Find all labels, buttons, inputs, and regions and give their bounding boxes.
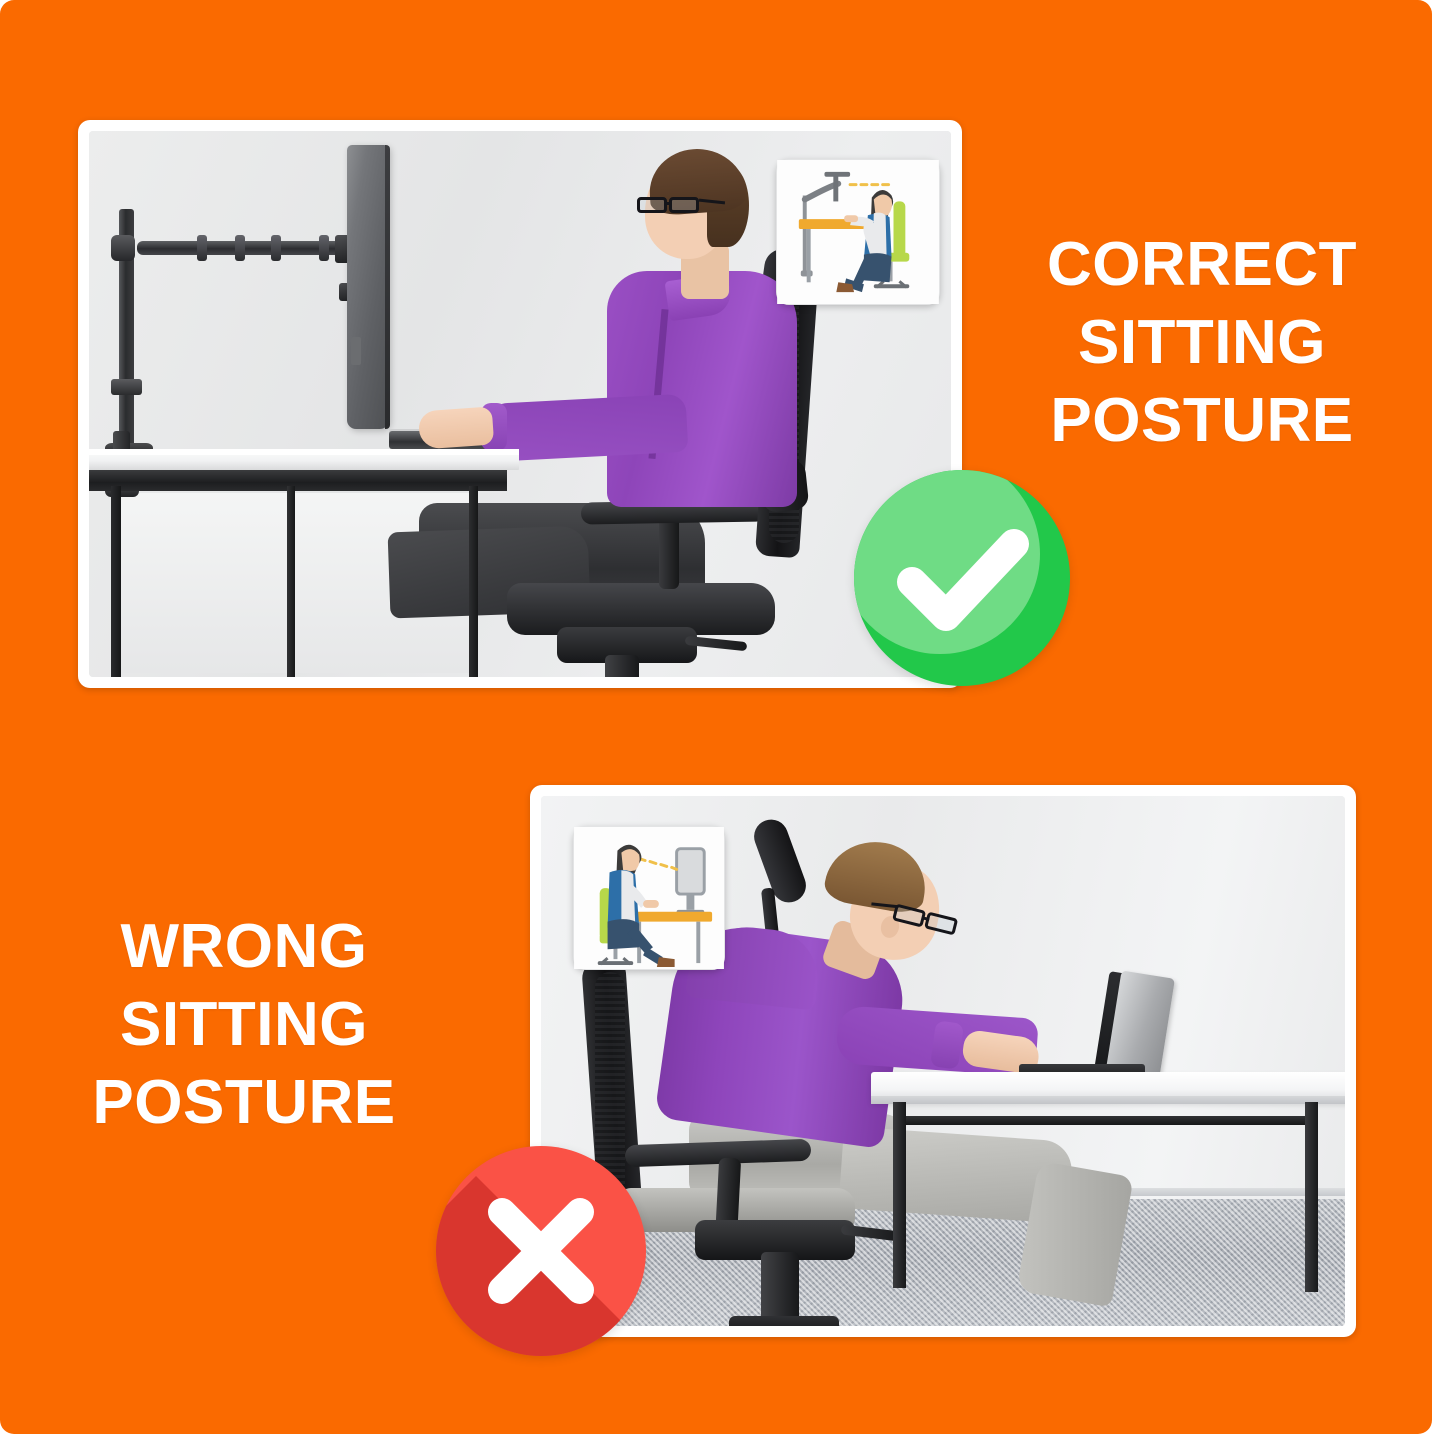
monitor-arm-segment	[271, 235, 281, 261]
desk-leg	[1305, 1102, 1318, 1292]
chair-armrest-post	[659, 517, 679, 589]
monitor-arm-segment	[197, 235, 207, 261]
monitor-rear	[347, 145, 389, 429]
title-line: POSTURE	[1008, 382, 1396, 460]
correct-posture-diagram-icon	[777, 160, 939, 304]
monitor-arm-segment	[319, 235, 329, 261]
title-line: WRONG	[48, 908, 440, 986]
wrong-posture-diagram-inset	[573, 826, 725, 970]
desk-frame-beam	[89, 470, 507, 491]
chair-base	[729, 1316, 839, 1326]
desk-rail	[893, 1116, 1317, 1125]
desk-leg	[111, 486, 121, 677]
chair-gas-cylinder	[605, 655, 639, 677]
eyeglasses	[637, 197, 707, 213]
wrong-posture-title: WRONG SITTING POSTURE	[48, 908, 440, 1142]
monitor-arm-segment	[235, 235, 245, 261]
desk-leg	[287, 486, 295, 677]
check-icon	[854, 470, 1070, 686]
monitor-arm-joint	[111, 235, 135, 261]
close-icon	[436, 1146, 646, 1356]
monitor-edge	[385, 145, 390, 429]
title-line: SITTING	[48, 986, 440, 1064]
chair-gas-cylinder	[761, 1252, 799, 1326]
desk-edge	[871, 1096, 1345, 1104]
title-line: POSTURE	[48, 1064, 440, 1142]
red-x-badge	[436, 1146, 646, 1356]
title-line: CORRECT	[1008, 226, 1396, 304]
desk-leg	[893, 1102, 906, 1288]
desk-surface-highlight	[89, 449, 519, 455]
person-hand	[418, 406, 494, 449]
monitor-arm-collar	[111, 379, 142, 395]
desk-leg	[469, 486, 478, 677]
correct-posture-title: CORRECT SITTING POSTURE	[1008, 226, 1396, 460]
poster-root: CORRECT SITTING POSTURE WRONG SITTING PO…	[0, 0, 1432, 1434]
green-check-badge	[854, 470, 1070, 686]
correct-posture-diagram-inset	[776, 159, 940, 305]
title-line: SITTING	[1008, 304, 1396, 382]
wrong-posture-diagram-icon	[574, 827, 724, 969]
monitor-port	[351, 337, 361, 365]
